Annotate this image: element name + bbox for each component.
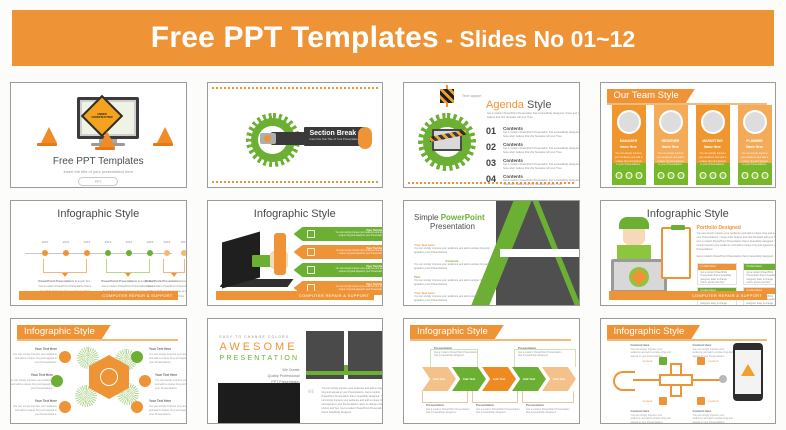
page-title-sep: - bbox=[439, 26, 459, 52]
node-text: Your Text Here You can simply impress yo… bbox=[11, 347, 57, 364]
timeline-dot[interactable] bbox=[164, 250, 170, 256]
note: Presentation Get a modern PowerPoint Pre… bbox=[518, 346, 564, 358]
alert-icon[interactable] bbox=[131, 401, 143, 413]
note-desc: Get a modern PowerPoint Presentation tha… bbox=[426, 408, 470, 415]
slide-thumbnail-1[interactable]: UNDER CONSTRUCTION Free PPT Templates In… bbox=[10, 82, 187, 188]
content-box-desc: Get a modern PowerPoint Presentation tha… bbox=[698, 270, 736, 288]
avatar bbox=[617, 110, 641, 134]
chevron-step[interactable]: Add Text bbox=[512, 367, 546, 391]
slide-subtitle: Insert the title of your presentation he… bbox=[11, 169, 186, 174]
clip-icon bbox=[307, 230, 315, 238]
timeline-year: 2016 bbox=[164, 240, 171, 244]
bullet-desc: You can simply impress your audience and… bbox=[414, 279, 490, 287]
slide-thumbnail-5[interactable]: Infographic Style 2010 2011 2012 2013 20… bbox=[10, 200, 187, 306]
document-icon[interactable] bbox=[697, 397, 705, 405]
arrow-bar[interactable]: Your Text Here You can simply impress yo… bbox=[294, 245, 384, 259]
photo bbox=[218, 383, 300, 424]
chevron-label: Add Text bbox=[553, 377, 566, 381]
note: Presentation Get a modern PowerPoint Pre… bbox=[426, 403, 472, 415]
chevron-step[interactable]: Add Text bbox=[452, 367, 486, 391]
node-label: Content bbox=[643, 399, 653, 403]
content-box[interactable]: Content Here Get a modern PowerPoint Pre… bbox=[697, 263, 737, 285]
node-desc: You can simply impress your audience and… bbox=[149, 353, 187, 364]
timeline-dot[interactable] bbox=[84, 250, 90, 256]
bulb-icon[interactable] bbox=[59, 351, 71, 363]
gear-icon[interactable] bbox=[139, 375, 151, 387]
avatar bbox=[701, 110, 725, 134]
globe-icon bbox=[100, 368, 118, 386]
agenda-item-number: 03 bbox=[486, 158, 499, 168]
timeline-year: 2011 bbox=[63, 240, 69, 244]
twitter-icon bbox=[709, 172, 716, 179]
team-desc: You can simply impress your audience and… bbox=[741, 152, 769, 167]
note-desc: Get a modern PowerPoint Presentation tha… bbox=[434, 351, 478, 358]
chevron-step[interactable]: Add Text bbox=[422, 367, 456, 391]
arrow-bar-desc: You can simply impress your audience and… bbox=[334, 250, 384, 256]
traffic-cone-base bbox=[37, 143, 57, 146]
slide-title: Free PPT Templates bbox=[11, 156, 186, 167]
chevron-step[interactable]: Add Text bbox=[542, 367, 576, 391]
timeline-year: 2014 bbox=[126, 240, 133, 244]
linkedin-icon bbox=[635, 172, 642, 179]
connector-line bbox=[633, 379, 661, 381]
facebook-icon bbox=[657, 172, 664, 179]
note-desc: You can simply impress your audience and… bbox=[631, 414, 671, 425]
slide-thumbnail-8[interactable]: Infographic Style Portfolio Designed You… bbox=[600, 200, 777, 306]
social-icons[interactable] bbox=[615, 172, 642, 179]
note-desc: Get a modern PowerPoint Presentation tha… bbox=[476, 408, 520, 415]
slide-thumbnail-10[interactable]: EASY TO CHANGE COLORS AWESOME PRESENTATI… bbox=[207, 318, 384, 424]
timeline-dot[interactable] bbox=[147, 250, 153, 256]
team-name: Name Here bbox=[654, 145, 688, 149]
note-connector bbox=[522, 391, 574, 403]
note: Presentation Get a modern PowerPoint Pre… bbox=[434, 346, 480, 358]
bullet-item[interactable]: Text You can simply impress your audienc… bbox=[414, 275, 490, 287]
team-card[interactable]: MARKETING Name Here You can simply impre… bbox=[696, 105, 730, 185]
facebook-icon bbox=[699, 172, 706, 179]
note-desc: Get a modern PowerPoint Presentation tha… bbox=[526, 408, 570, 415]
dotted-rule-bottom bbox=[212, 181, 379, 183]
team-name: Name Here bbox=[696, 145, 730, 149]
social-icons[interactable] bbox=[657, 172, 684, 179]
timeline-brace bbox=[106, 259, 150, 273]
timeline-year: 2017 bbox=[181, 240, 187, 244]
headset-icon bbox=[619, 217, 649, 229]
timeline-dot[interactable] bbox=[63, 250, 69, 256]
note: Presentation Get a modern PowerPoint Pre… bbox=[476, 403, 522, 415]
page-title-sub: Slides No 01~12 bbox=[459, 26, 635, 52]
note: Content Here You can simply impress your… bbox=[631, 409, 673, 424]
bulb-icon[interactable] bbox=[659, 397, 667, 405]
arrow-bar[interactable]: Your Text Here You can simply impress yo… bbox=[294, 263, 384, 277]
ribbon-rule bbox=[607, 339, 768, 341]
social-icons[interactable] bbox=[699, 172, 726, 179]
slide-thumbnail-3[interactable]: Tech support Agenda Style Get a modern P… bbox=[403, 82, 580, 188]
facebook-icon bbox=[741, 172, 748, 179]
team-role: MARKETING bbox=[696, 139, 730, 143]
slide-title: Simple PowerPoint Presentation bbox=[414, 213, 485, 231]
dotted-rule-top bbox=[212, 87, 379, 89]
team-desc: You can simply impress your audience and… bbox=[699, 152, 727, 167]
agenda-item[interactable]: 01 Contents Get a modern PowerPoint Pres… bbox=[486, 126, 580, 139]
note-connector bbox=[472, 391, 518, 403]
slide-thumbnail-6[interactable]: Infographic Style Your Text Here You can… bbox=[207, 200, 384, 306]
content-box-desc: Get a modern PowerPoint Presentation tha… bbox=[744, 270, 777, 288]
agenda-item[interactable]: 04 Contents Get a modern PowerPoint Pres… bbox=[486, 174, 580, 187]
slide-thumbnail-9[interactable]: Infographic Style Your Text Here bbox=[10, 318, 187, 424]
slide-thumbnail-7[interactable]: Simple PowerPoint Presentation Your Text… bbox=[403, 200, 580, 306]
team-role: PLANNER bbox=[738, 139, 772, 143]
timeline-caption-title: PowerPoint Presentation bbox=[145, 279, 181, 283]
chevron-label: Add Text bbox=[433, 377, 446, 381]
slide-ribbon-title: Our Team Style bbox=[607, 89, 695, 103]
photo-divider bbox=[500, 249, 580, 257]
team-name: Name Here bbox=[612, 145, 646, 149]
linkedin-icon bbox=[719, 172, 726, 179]
chevron-label: Add Text bbox=[493, 377, 506, 381]
sign-text: UNDER CONSTRUCTION bbox=[89, 103, 115, 129]
slide-ribbon-title: Infographic Style bbox=[17, 325, 111, 339]
agenda-item-number: 01 bbox=[486, 126, 499, 136]
endpoint-dot bbox=[719, 375, 727, 383]
linkedin-icon bbox=[761, 172, 768, 179]
wrench-bolt bbox=[264, 135, 271, 142]
twitter-icon bbox=[625, 172, 632, 179]
slide-footer: COMPUTER REPAIR & SUPPORT bbox=[216, 291, 375, 300]
node-desc: You can simply impress your audience and… bbox=[13, 405, 57, 416]
traffic-cone-base bbox=[153, 143, 173, 146]
bullet-desc: You can simply impress your audience and… bbox=[414, 247, 490, 255]
clipboard-icon bbox=[661, 227, 691, 279]
note: Content Here You can simply impress your… bbox=[693, 409, 735, 424]
briefcase-icon[interactable] bbox=[131, 351, 143, 363]
agenda-item-number: 02 bbox=[486, 142, 499, 152]
team-card[interactable]: PLANNER Name Here You can simply impress… bbox=[738, 105, 772, 185]
traffic-cone-base bbox=[95, 147, 115, 150]
slide-ribbon-title: Infographic Style bbox=[410, 325, 504, 339]
eyebrow-label: EASY TO CHANGE COLORS bbox=[220, 335, 290, 339]
timeline-pointer bbox=[171, 273, 177, 277]
timeline-dot[interactable] bbox=[105, 250, 111, 256]
slide-title-rest: Style bbox=[524, 99, 552, 111]
note-connector bbox=[422, 391, 468, 403]
timeline-dot[interactable] bbox=[126, 250, 132, 256]
team-role: DESIGNER bbox=[654, 139, 688, 143]
node-desc: You can simply impress your audience and… bbox=[10, 379, 53, 390]
chevron-label: Add Text bbox=[463, 377, 476, 381]
slide-footer: COMPUTER REPAIR & SUPPORT bbox=[19, 291, 178, 300]
slide-title: Infographic Style bbox=[11, 208, 186, 220]
slide-title-c: Presentation bbox=[414, 222, 475, 231]
section-heading: Portfolio Designed bbox=[697, 225, 741, 231]
node-title: Your Text Here bbox=[149, 399, 187, 404]
linkedin-icon bbox=[677, 172, 684, 179]
traffic-cone-icon bbox=[41, 127, 57, 143]
eyebrow-label: Tech support bbox=[462, 94, 481, 98]
chevron-step[interactable]: Add Text bbox=[482, 367, 516, 391]
agenda-item-desc: Get a modern PowerPoint Presentation tha… bbox=[503, 131, 580, 139]
ribbon-rule bbox=[410, 339, 571, 341]
agenda-item-desc: Get a modern PowerPoint Presentation tha… bbox=[503, 147, 580, 155]
section-body: You can simply impress your audience and… bbox=[697, 232, 777, 251]
arrow-bar[interactable]: Your Text Here You can simply impress yo… bbox=[294, 227, 384, 241]
warning-icon bbox=[741, 364, 755, 376]
arrow-bar-desc: You can simply impress your audience and… bbox=[334, 268, 384, 274]
node-title: Your Text Here bbox=[149, 347, 187, 352]
team-card[interactable]: DESIGNER Name Here You can simply impres… bbox=[654, 105, 688, 185]
node-desc: You can simply impress your audience and… bbox=[13, 353, 57, 364]
ribbon-rule bbox=[17, 339, 178, 341]
smartphone-icon bbox=[733, 343, 763, 401]
note: Presentation Get a modern PowerPoint Pre… bbox=[526, 403, 572, 415]
page-title-main: Free PPT Templates bbox=[151, 21, 439, 54]
node-text: Your Text Here You can simply impress yo… bbox=[149, 399, 187, 416]
team-desc: You can simply impress your audience and… bbox=[657, 152, 685, 167]
node-label: Content bbox=[643, 359, 653, 363]
note-desc: Get a modern PowerPoint Presentation tha… bbox=[518, 351, 562, 358]
traffic-cone-icon bbox=[157, 127, 173, 143]
headline-secondary: PRESENTATION bbox=[220, 355, 300, 362]
timeline-caption-title: PowerPoint Presentation bbox=[101, 279, 137, 283]
slide-thumbnail-11[interactable]: Infographic Style Add Text Add Text Add … bbox=[403, 318, 580, 424]
timeline-year: 2012 bbox=[84, 240, 91, 244]
chart-icon bbox=[307, 266, 315, 274]
timeline-caption-title: PowerPoint Presentation bbox=[38, 279, 74, 283]
node-label: Content bbox=[709, 359, 719, 363]
slide-thumbnail-2[interactable]: Section Break Insert the Sub Title of Yo… bbox=[207, 82, 384, 188]
node-text: Your Text Here You can simply impress yo… bbox=[155, 373, 187, 390]
team-role: MANAGER bbox=[612, 139, 646, 143]
slide-title: Infographic Style bbox=[208, 208, 383, 220]
agenda-item[interactable]: 02 Contents Get a modern PowerPoint Pres… bbox=[486, 142, 580, 155]
agenda-item-desc: Get a modern PowerPoint Presentation tha… bbox=[503, 179, 580, 187]
node-text: Your Text Here You can simply impress yo… bbox=[11, 399, 57, 416]
slide-thumbnail-4[interactable]: Our Team Style MANAGER Name Here You can… bbox=[600, 82, 777, 188]
content-box[interactable]: Content Here Get a modern PowerPoint Pre… bbox=[743, 263, 777, 285]
quote-text: You can simply impress your audience and… bbox=[322, 387, 384, 415]
bullet-item[interactable]: Your Text Here You can simply impress yo… bbox=[414, 291, 490, 303]
note: Content Here You can simply impress your… bbox=[693, 343, 735, 359]
photo bbox=[348, 331, 384, 371]
slide-title: Agenda Style bbox=[486, 99, 551, 111]
slide-footer: COMPUTER REPAIR & SUPPORT bbox=[609, 291, 768, 300]
connector-line bbox=[693, 379, 721, 381]
shield-icon bbox=[307, 248, 315, 256]
traffic-cone-icon bbox=[99, 131, 115, 147]
timeline-year: 2013 bbox=[105, 240, 112, 244]
monitor-icon[interactable] bbox=[59, 401, 71, 413]
plug-icon bbox=[613, 371, 635, 391]
agenda-item-desc: Get a modern PowerPoint Presentation tha… bbox=[503, 163, 580, 171]
node-title: Your Text Here bbox=[10, 373, 53, 378]
node-text: Your Text Here You can simply impress yo… bbox=[149, 347, 187, 364]
slide-intro: Get a modern PowerPoint Presentation tha… bbox=[487, 112, 580, 120]
cross-diagram bbox=[659, 363, 693, 397]
slide-ribbon-title: Infographic Style bbox=[607, 325, 701, 339]
slide-title-b: PowerPoint bbox=[441, 213, 485, 222]
timeline-dot[interactable] bbox=[42, 250, 48, 256]
note-desc: You can simply impress your audience and… bbox=[631, 348, 671, 359]
section-body-2: Get a modern PowerPoint Presentation tha… bbox=[697, 255, 777, 259]
node-title: Your Text Here bbox=[155, 373, 187, 378]
note: Content Here You can simply impress your… bbox=[631, 343, 673, 359]
agenda-item-number: 04 bbox=[486, 174, 499, 184]
facebook-icon bbox=[615, 172, 622, 179]
bullet-desc: You can simply impress your audience and… bbox=[414, 295, 490, 303]
note-desc: You can simply impress your audience and… bbox=[693, 414, 733, 425]
node-text: Your Text Here You can simply impress yo… bbox=[10, 373, 53, 390]
timeline-pointer bbox=[62, 273, 68, 277]
node-desc: You can simply impress your audience and… bbox=[149, 405, 187, 416]
timeline-dot[interactable] bbox=[181, 250, 187, 256]
crane-hook-icon bbox=[440, 89, 454, 103]
twitter-icon bbox=[751, 172, 758, 179]
twitter-icon bbox=[667, 172, 674, 179]
arrow-bar-desc: You can simply impress your audience and… bbox=[334, 232, 384, 238]
avatar bbox=[743, 110, 767, 134]
section-break-label: Section Break Insert the Sub Title of Yo… bbox=[304, 127, 365, 146]
wrench-icon bbox=[274, 233, 286, 275]
timeline-brace bbox=[43, 259, 87, 273]
page-title: Free PPT Templates - Slides No 01~12 bbox=[151, 21, 635, 55]
timeline-pointer bbox=[125, 273, 131, 277]
section-break-subtext: Insert the Sub Title of Your Presentatio… bbox=[310, 137, 359, 141]
slide-thumbnail-12[interactable]: Infographic Style Content Content Conten… bbox=[600, 318, 777, 424]
bullet-item[interactable]: Your Text Here You can simply impress yo… bbox=[414, 243, 490, 255]
photo bbox=[306, 331, 344, 371]
timeline-year: 2015 bbox=[147, 240, 154, 244]
note-desc: You can simply impress your audience and… bbox=[693, 348, 733, 359]
slide-title-accent: Agenda bbox=[486, 99, 524, 111]
slide-gallery-page: Free PPT Templates - Slides No 01~12 UND… bbox=[0, 0, 786, 430]
hexagon-globe bbox=[89, 355, 129, 399]
agenda-item[interactable]: 03 Contents Get a modern PowerPoint Pres… bbox=[486, 158, 580, 171]
bullet-desc: You can simply impress your audience and… bbox=[414, 263, 490, 271]
avatar bbox=[659, 110, 683, 134]
timeline-brace bbox=[163, 259, 185, 273]
section-break-text: Section Break bbox=[310, 130, 357, 137]
wrench-handle-end bbox=[358, 127, 372, 149]
team-desc: You can simply impress your audience and… bbox=[615, 152, 643, 167]
timeline-year: 2010 bbox=[42, 240, 49, 244]
slide-grid: UNDER CONSTRUCTION Free PPT Templates In… bbox=[0, 76, 786, 430]
quote-mark: “ bbox=[308, 387, 315, 403]
header-banner: Free PPT Templates - Slides No 01~12 bbox=[12, 10, 774, 66]
slide-title-a: Simple bbox=[414, 213, 441, 222]
chevron-label: Add Text bbox=[523, 377, 536, 381]
node-title: Your Text Here bbox=[11, 347, 57, 352]
logo-badge: PPT bbox=[78, 177, 118, 186]
bullet-item[interactable]: Contents You can simply impress your aud… bbox=[414, 259, 490, 271]
node-title: Your Text Here bbox=[11, 399, 57, 404]
headline-primary: AWESOME bbox=[220, 341, 298, 353]
team-card[interactable]: MANAGER Name Here You can simply impress… bbox=[612, 105, 646, 185]
node-label: Content bbox=[709, 399, 719, 403]
team-name: Name Here bbox=[738, 145, 772, 149]
node-desc: You can simply impress your audience and… bbox=[155, 379, 187, 390]
social-icons[interactable] bbox=[741, 172, 768, 179]
